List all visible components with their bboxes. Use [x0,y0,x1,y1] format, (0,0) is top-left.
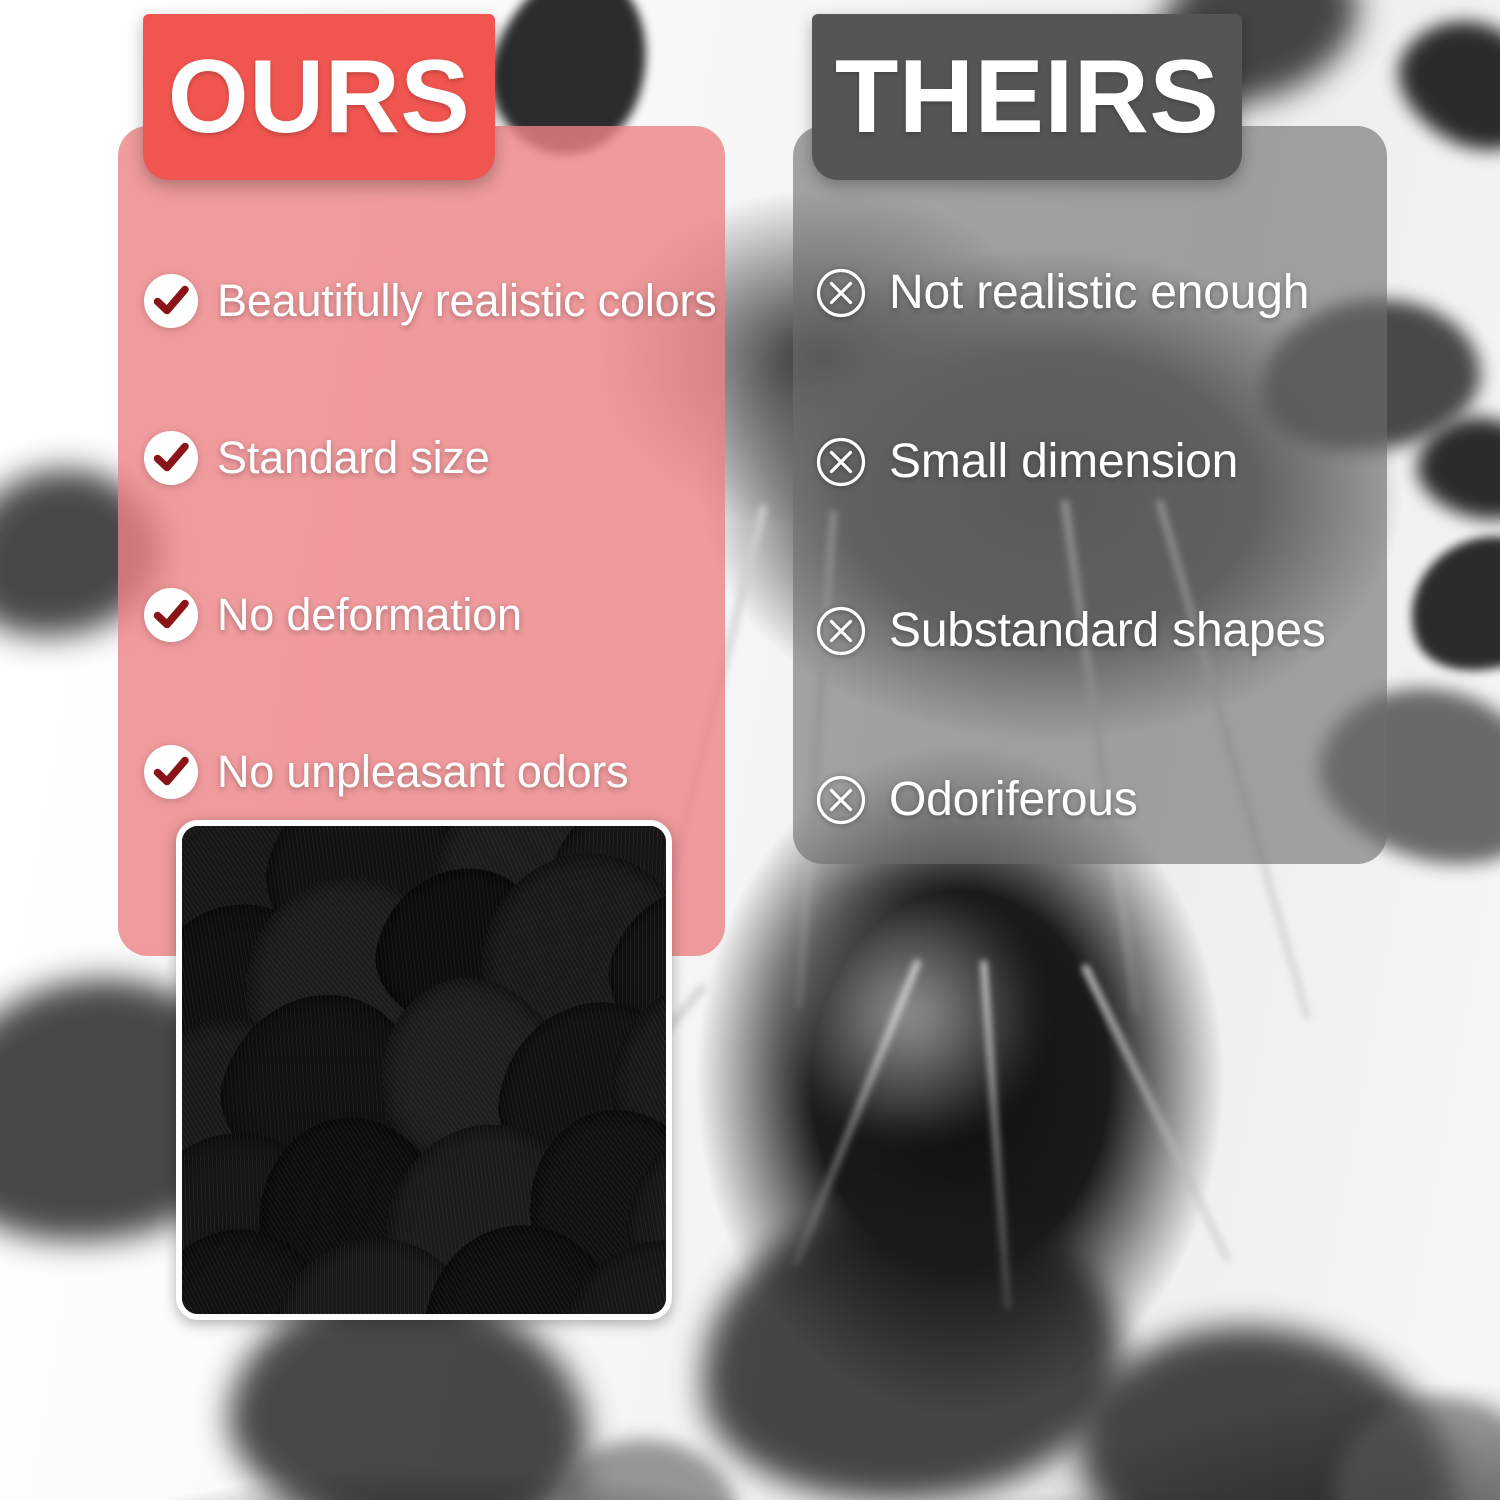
feature-label: No unpleasant odors [217,746,628,798]
feature-label: No deformation [217,589,522,641]
panel-theirs: Not realistic enough Small dimension Sub… [793,126,1387,864]
black-rose-petals-photo [182,826,666,1314]
circle-x-icon [815,267,867,319]
circle-x-icon [815,436,867,488]
banner-theirs-label: THEIRS [835,45,1219,149]
circle-x-icon [815,605,867,657]
feature-list-theirs: Not realistic enough Small dimension Sub… [793,208,1387,884]
feature-label: Beautifully realistic colors [217,275,717,327]
feature-item-ours: Standard size [118,379,725,536]
check-icon [144,745,198,799]
background-glow [760,900,1060,1130]
check-icon [144,588,198,642]
check-icon [144,431,198,485]
product-inset-photo [176,820,672,1320]
feature-item-theirs: Small dimension [793,377,1387,546]
banner-ours: OURS [143,14,495,180]
feature-item-theirs: Not realistic enough [793,208,1387,377]
feature-label: Substandard shapes [889,603,1326,658]
feature-label: Not realistic enough [889,265,1309,320]
banner-theirs: THEIRS [812,14,1242,180]
feature-label: Odoriferous [889,772,1138,827]
feature-item-ours: Beautifully realistic colors [118,222,725,379]
feature-label: Standard size [217,432,490,484]
check-icon [144,274,198,328]
feature-label: Small dimension [889,434,1238,489]
comparison-infographic: OURS THEIRS Beautifully realistic colors… [0,0,1500,1500]
feature-item-ours: No deformation [118,536,725,693]
feature-item-theirs: Substandard shapes [793,546,1387,715]
circle-x-icon [815,774,867,826]
feature-item-theirs: Odoriferous [793,715,1387,884]
feature-list-ours: Beautifully realistic colors Standard si… [118,222,725,850]
banner-ours-label: OURS [168,45,470,149]
